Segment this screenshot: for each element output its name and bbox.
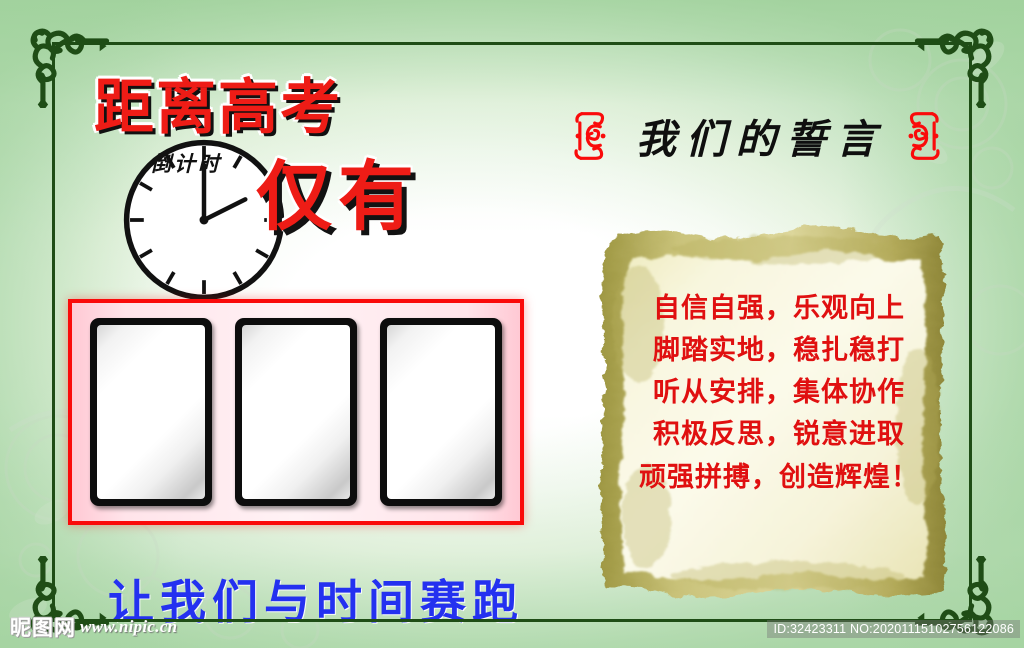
pledge-parchment: 自信自强，乐观向上 脚踏实地，稳扎稳打 听从安排，集体协作 积极反思，锐意进取 …: [598, 216, 954, 602]
chinese-scroll-ornament-icon: [904, 110, 942, 162]
chinese-scroll-ornament-icon: [572, 110, 610, 162]
pledge-line: 听从安排，集体协作: [622, 378, 936, 407]
headline-block: 倒计时 距离高考 仅有: [88, 78, 458, 258]
headline-line-1: 距离高考: [94, 78, 342, 138]
poster-canvas: 倒计时 距离高考 仅有 让我们与时间赛跑: [0, 0, 1024, 648]
countdown-digit-value: [97, 325, 205, 499]
pledge-line: 脚踏实地，稳扎稳打: [622, 336, 936, 365]
countdown-digit-value: [242, 325, 350, 499]
watermark-site-name: 昵图网: [10, 612, 76, 642]
pledge-line: 积极反思，锐意进取: [622, 420, 936, 449]
site-watermark: 昵图网 www.nipic.cn: [10, 612, 177, 642]
corner-swirl-ornament-icon: [914, 22, 1000, 108]
pledge-text-lines: 自信自强，乐观向上 脚踏实地，稳扎稳打 听从安排，集体协作 积极反思，锐意进取 …: [622, 294, 936, 492]
frame-border-top: [52, 42, 972, 45]
pledge-line: 自信自强，乐观向上: [622, 294, 936, 323]
countdown-digit-box[interactable]: [380, 318, 502, 506]
pledge-line: 顽强拼搏，创造辉煌！: [622, 463, 936, 492]
pledge-heading: 我们的誓言: [572, 104, 942, 168]
frame-border-right: [969, 42, 972, 622]
watermark-site-url: www.nipic.cn: [80, 617, 177, 637]
countdown-digit-box[interactable]: [235, 318, 357, 506]
countdown-digit-box[interactable]: [90, 318, 212, 506]
frame-border-left: [52, 42, 55, 622]
countdown-digit-value: [387, 325, 495, 499]
pledge-heading-text: 我们的誓言: [628, 107, 886, 165]
clock-caption: 倒计时: [150, 148, 222, 178]
countdown-boxes: [68, 299, 524, 525]
watermark-id-text: ID:32423311 NO:20201115102756122086: [767, 620, 1020, 638]
headline-line-2: 仅有: [256, 160, 420, 236]
